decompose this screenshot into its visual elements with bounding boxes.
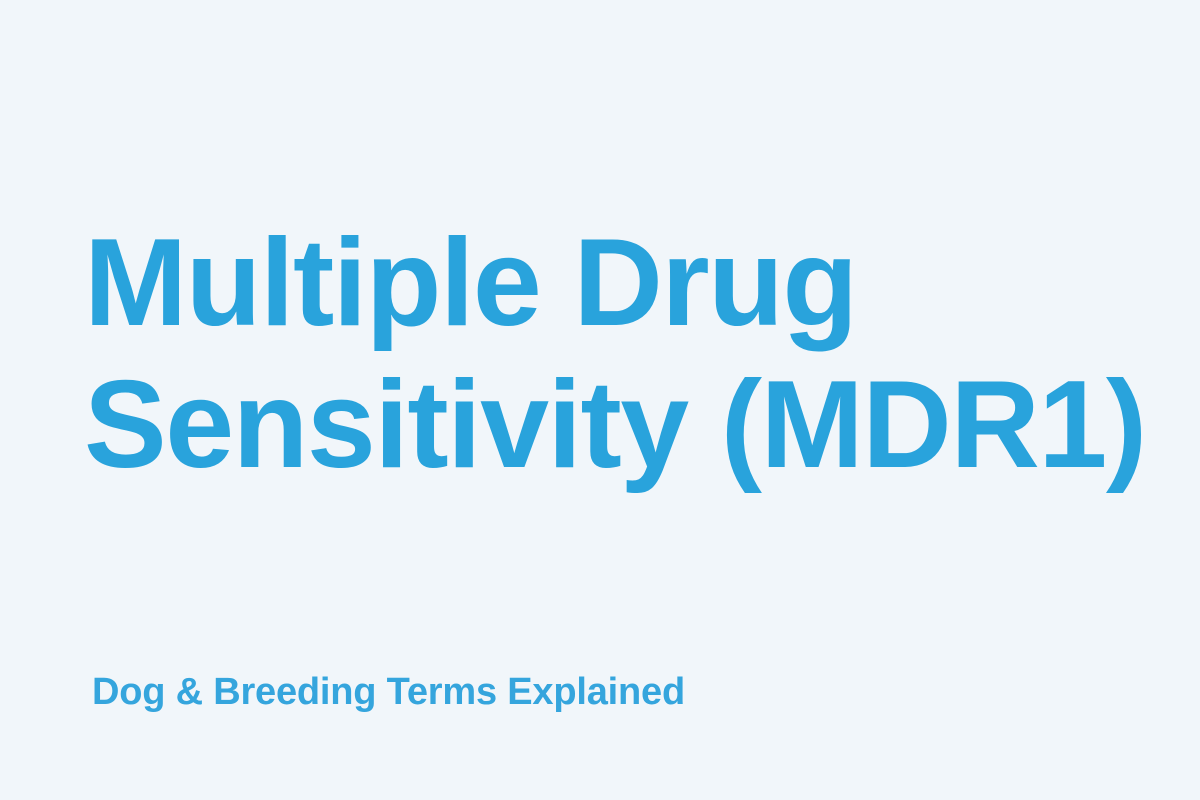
title-card: Multiple Drug Sensitivity (MDR1) Dog & B… bbox=[0, 0, 1200, 800]
page-subtitle: Dog & Breeding Terms Explained bbox=[92, 669, 685, 715]
title-line-2: Sensitivity (MDR1) bbox=[84, 354, 1124, 496]
title-line-1: Multiple Drug bbox=[84, 212, 1124, 354]
page-title: Multiple Drug Sensitivity (MDR1) bbox=[84, 212, 1124, 496]
